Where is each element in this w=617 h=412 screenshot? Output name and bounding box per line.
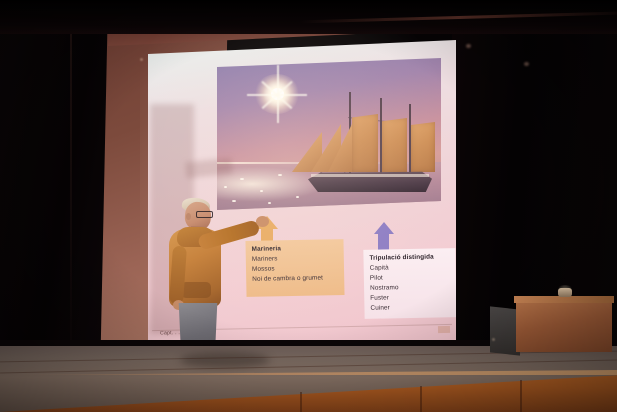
stage-edge-joint xyxy=(300,392,302,412)
presenter-floor-shadow xyxy=(180,352,270,368)
slide-photo-schooner xyxy=(216,58,442,210)
photo-scene: Marineria Mariners Mossos Noi de cambra … xyxy=(0,0,617,412)
sea-sparkle xyxy=(224,186,227,188)
gaff-sail-main xyxy=(382,118,407,172)
gaff-sail-mizzen xyxy=(411,122,435,172)
podium xyxy=(516,300,612,352)
sea-sparkle xyxy=(296,196,299,198)
presenter-ear xyxy=(186,213,191,220)
light-speck xyxy=(492,338,495,341)
podium-lamp-icon xyxy=(558,288,572,297)
slide-box-tripulacio: Tripulació distingida Capità Pilot Nostr… xyxy=(363,248,456,319)
sea-sparkle xyxy=(260,190,263,192)
podium-top-surface xyxy=(514,296,614,303)
deck-line xyxy=(311,174,429,177)
slide-corner-badge xyxy=(438,326,450,333)
box-tripulacio-item: Cuiner xyxy=(370,303,451,315)
sea-sparkle xyxy=(240,178,244,180)
ceiling-spot-icon xyxy=(466,44,471,48)
ceiling-spot-icon xyxy=(524,62,529,66)
stage-edge-joint xyxy=(520,380,522,412)
presenter-pointing-hand xyxy=(256,216,269,227)
mast-mizzen xyxy=(409,104,411,174)
glasses-icon xyxy=(196,211,213,218)
mast-main xyxy=(380,98,382,174)
gaff-sail-fore xyxy=(352,114,378,172)
light-speck xyxy=(140,58,143,61)
stage-edge-joint xyxy=(420,386,422,412)
hoodie-pocket xyxy=(181,282,211,298)
sea-sparkle xyxy=(278,174,282,176)
stage-curtain-left xyxy=(0,0,118,352)
